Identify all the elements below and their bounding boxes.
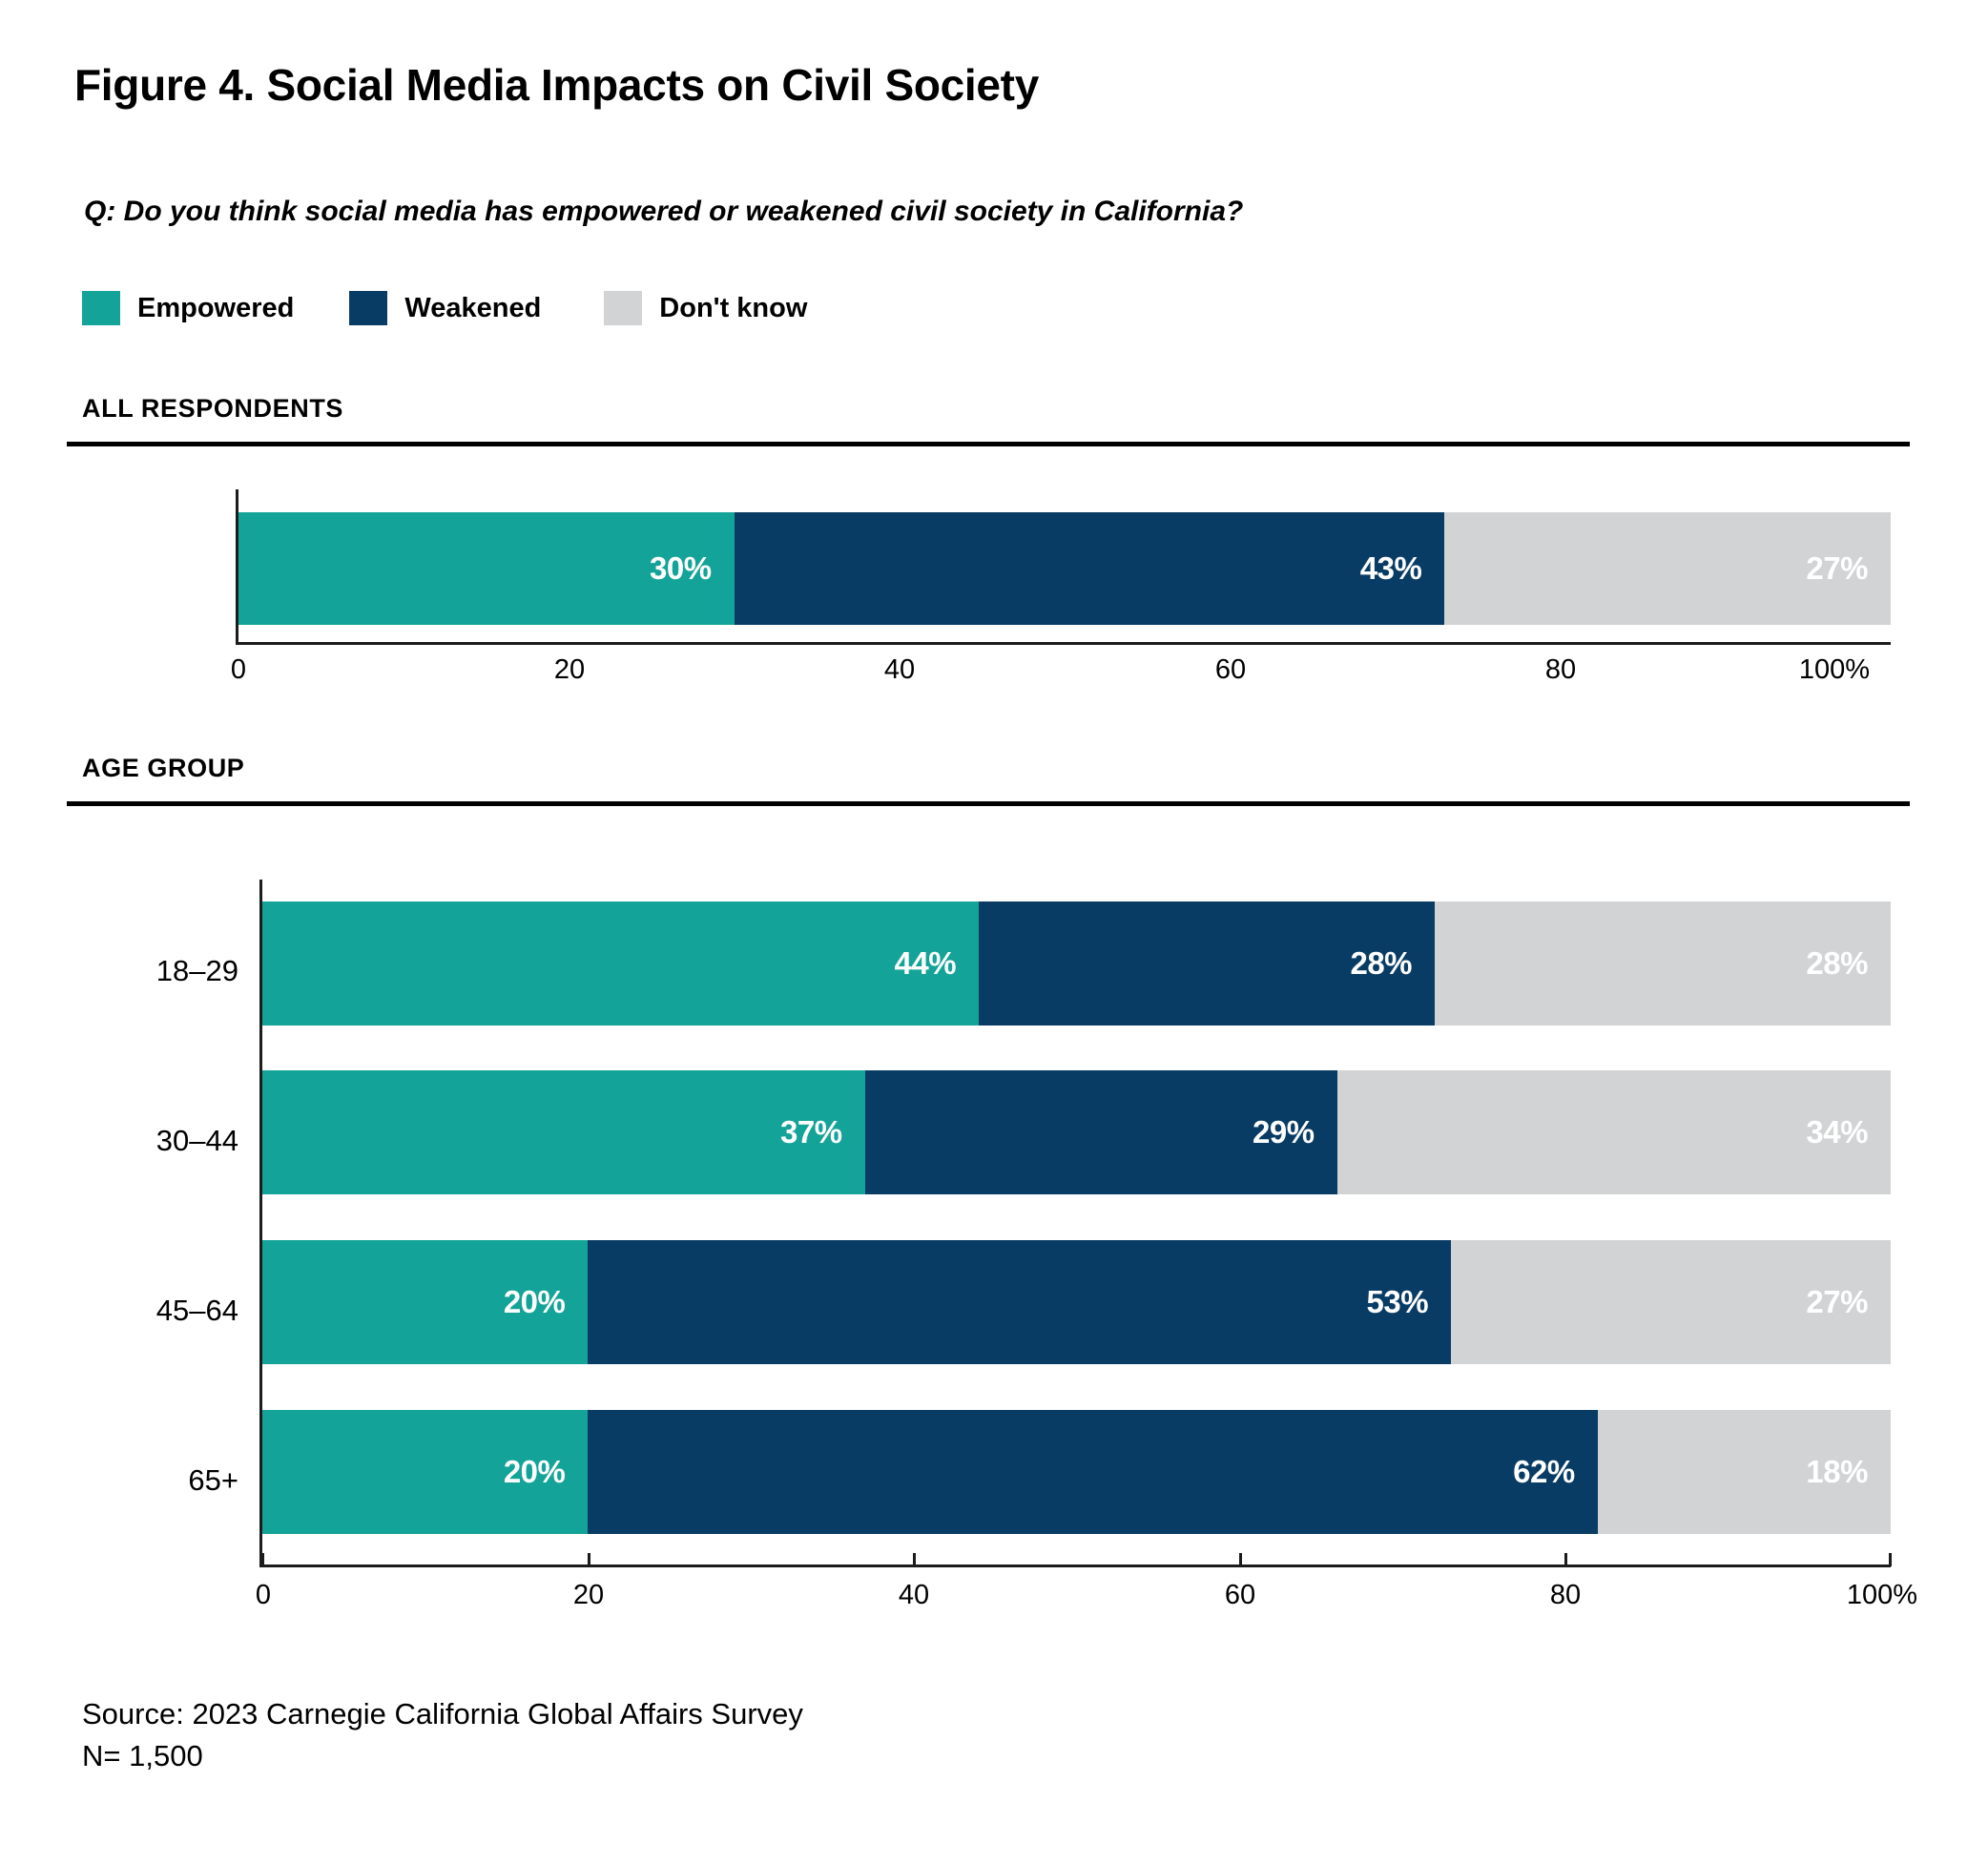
source-line-2: N= 1,500 — [82, 1739, 203, 1772]
panel2-tickmark-40 — [913, 1553, 916, 1566]
legend-item-dont-know: Don't know — [604, 291, 807, 325]
panel1-x-axis — [236, 642, 1891, 645]
bar-segment-45-64-weakened: 53% — [588, 1240, 1451, 1364]
legend-label-dont-know: Don't know — [659, 293, 807, 324]
bar-row-18-29: 44% 28% 28% — [262, 901, 1891, 1026]
bar-segment-18-29-empowered: 44% — [262, 901, 979, 1026]
bar-value-30-44-dont-know: 34% — [1806, 1114, 1891, 1150]
bar-segment-18-29-dont-know: 28% — [1435, 901, 1891, 1026]
panel2-x-axis — [259, 1565, 1891, 1567]
bar-segment-weakened: 43% — [735, 512, 1445, 625]
bar-segment-65-plus-empowered: 20% — [262, 1410, 588, 1534]
section-heading-all-respondents: ALL RESPONDENTS — [82, 394, 343, 424]
panel2-tick-100: 100% — [1847, 1580, 1917, 1611]
panel1-tick-20: 20 — [554, 654, 585, 686]
panel2-tickmark-60 — [1239, 1553, 1242, 1566]
bar-value-30-44-empowered: 37% — [780, 1114, 865, 1150]
bar-value-empowered: 30% — [650, 550, 735, 587]
bar-segment-30-44-empowered: 37% — [262, 1070, 865, 1194]
legend-label-empowered: Empowered — [137, 293, 294, 324]
bar-value-65-plus-empowered: 20% — [504, 1454, 589, 1490]
panel2-tick-80: 80 — [1550, 1580, 1581, 1611]
legend-swatch-empowered — [82, 291, 120, 325]
panel1-tick-100: 100% — [1799, 654, 1870, 686]
section-divider-age-group — [67, 801, 1910, 806]
bar-value-dont-know: 27% — [1806, 550, 1891, 587]
panel-age-group: 44% 28% 28% 37% 29% 34% 20% — [0, 868, 1988, 1269]
chart-legend: Empowered Weakened Don't know — [82, 291, 807, 325]
bar-row-all-respondents: 30% 43% 27% — [238, 512, 1891, 625]
panel2-tickmark-100 — [1889, 1553, 1892, 1566]
page-title: Figure 4. Social Media Impacts on Civil … — [74, 59, 1039, 111]
category-label-row-45-64: 45–64 — [95, 1294, 238, 1328]
category-label-row-65-plus: 65+ — [95, 1463, 238, 1498]
bar-segment-dont-know: 27% — [1444, 512, 1891, 625]
legend-item-empowered: Empowered — [82, 291, 294, 325]
bar-row-30-44: 37% 29% 34% — [262, 1070, 1891, 1194]
bar-segment-65-plus-weakened: 62% — [588, 1410, 1597, 1534]
source-line-1: Source: 2023 Carnegie California Global … — [82, 1697, 803, 1730]
panel2-tickmark-20 — [588, 1553, 590, 1566]
panel1-tick-0: 0 — [231, 654, 246, 686]
source-note: Source: 2023 Carnegie California Global … — [82, 1693, 803, 1777]
bar-value-18-29-empowered: 44% — [895, 945, 980, 982]
bar-value-45-64-weakened: 53% — [1367, 1284, 1452, 1320]
bar-row-45-64: 20% 53% 27% — [262, 1240, 1891, 1364]
bar-segment-30-44-weakened: 29% — [865, 1070, 1337, 1194]
legend-swatch-weakened — [349, 291, 387, 325]
panel2-tick-20: 20 — [573, 1580, 604, 1611]
legend-label-weakened: Weakened — [404, 293, 541, 324]
panel2-tickmark-0 — [261, 1553, 264, 1566]
bar-segment-45-64-empowered: 20% — [262, 1240, 588, 1364]
section-heading-age-group: AGE GROUP — [82, 754, 244, 783]
bar-segment-65-plus-dont-know: 18% — [1598, 1410, 1891, 1534]
category-label-row-30-44: 30–44 — [95, 1124, 238, 1158]
panel2-tickmark-80 — [1564, 1553, 1567, 1566]
bar-value-18-29-weakened: 28% — [1350, 945, 1435, 982]
bar-segment-empowered: 30% — [238, 512, 735, 625]
legend-item-weakened: Weakened — [349, 291, 541, 325]
bar-value-45-64-dont-know: 27% — [1806, 1284, 1891, 1320]
panel2-tick-60: 60 — [1225, 1580, 1255, 1611]
panel1-tick-80: 80 — [1545, 654, 1576, 686]
bar-value-weakened: 43% — [1360, 550, 1445, 587]
bar-value-65-plus-weakened: 62% — [1513, 1454, 1598, 1490]
panel1-tick-40: 40 — [884, 654, 915, 686]
category-label-row-18-29: 18–29 — [95, 954, 238, 988]
bar-value-45-64-empowered: 20% — [504, 1284, 589, 1320]
bar-value-18-29-dont-know: 28% — [1806, 945, 1891, 982]
panel2-tick-0: 0 — [256, 1580, 271, 1611]
bar-row-65-plus: 20% 62% 18% — [262, 1410, 1891, 1534]
panel2-tick-40: 40 — [899, 1580, 929, 1611]
bar-segment-18-29-weakened: 28% — [979, 901, 1435, 1026]
legend-swatch-dont-know — [604, 291, 642, 325]
bar-value-65-plus-dont-know: 18% — [1806, 1454, 1891, 1490]
panel-all-respondents: 30% 43% 27% 0 20 40 60 80 100% — [0, 477, 1988, 658]
bar-value-30-44-weakened: 29% — [1253, 1114, 1337, 1150]
figure-canvas: Figure 4. Social Media Impacts on Civil … — [0, 0, 1988, 1865]
panel1-tick-60: 60 — [1215, 654, 1246, 686]
bar-segment-30-44-dont-know: 34% — [1337, 1070, 1891, 1194]
section-divider-all-respondents — [67, 442, 1910, 446]
survey-question: Q: Do you think social media has empower… — [84, 196, 1243, 228]
bar-segment-45-64-dont-know: 27% — [1451, 1240, 1891, 1364]
